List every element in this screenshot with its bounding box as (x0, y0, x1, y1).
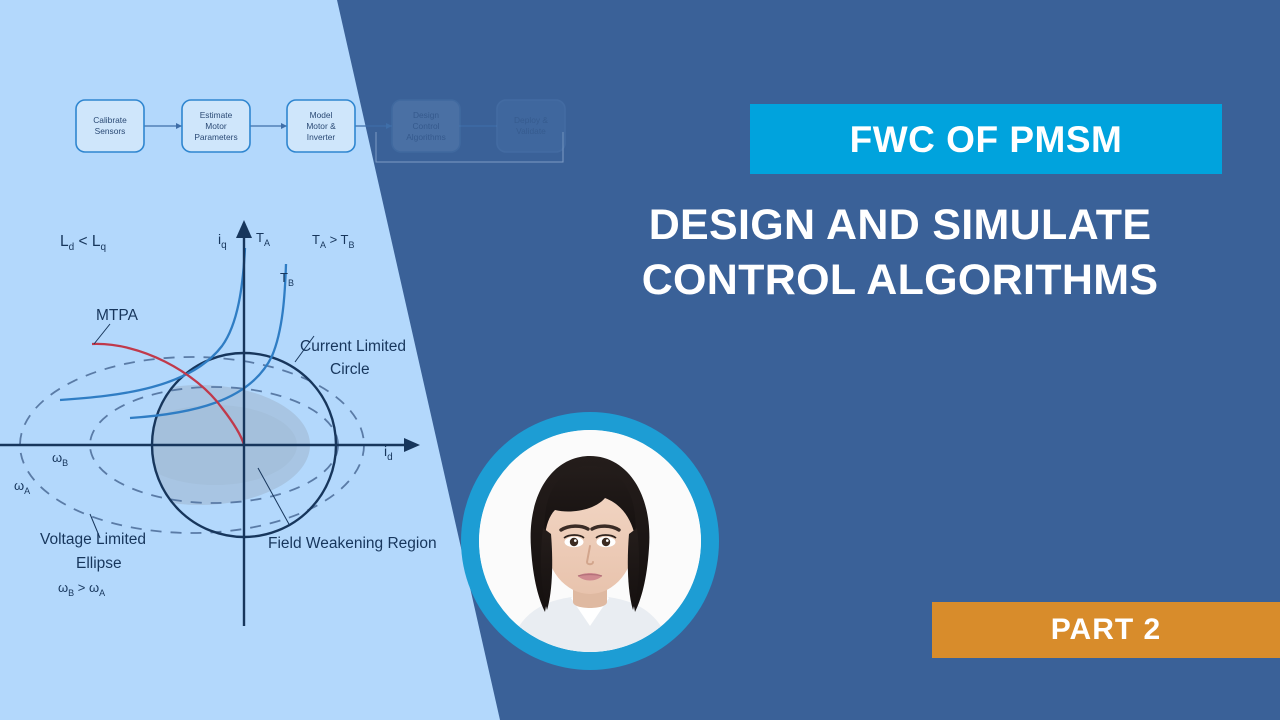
part-badge-label: PART 2 (1051, 615, 1161, 645)
y-axis-label: iq (218, 231, 227, 251)
flow-step-label: Sensors (95, 126, 126, 136)
flow-step-label: Inverter (307, 132, 336, 142)
mtpa-label: MTPA (96, 307, 139, 324)
torque-condition-label: TA > TB (312, 232, 355, 250)
voltage-limited-ellipse-label-line1: Voltage Limited (40, 531, 146, 548)
x-axis-arrowhead (404, 438, 420, 452)
page-title-line-2: CONTROL ALGORITHMS (540, 253, 1260, 308)
flow-step-deploy-validate: Deploy & Validate (497, 100, 565, 152)
y-axis-arrowhead (236, 220, 252, 238)
flow-step-label: Motor & (306, 121, 336, 131)
flow-step-label: Estimate (200, 110, 233, 120)
flow-step-label: Algorithms (406, 132, 446, 142)
current-limited-circle-label-line2: Circle (330, 361, 370, 378)
omega-a-label: ωA (14, 478, 30, 496)
video-thumbnail: Calibrate Sensors Estimate Motor Paramet… (0, 0, 1280, 720)
current-limited-circle-label-line1: Current Limited (300, 338, 406, 355)
flow-step-label: Validate (516, 126, 546, 136)
flow-step-label: Design (413, 110, 439, 120)
part-badge: PART 2 (932, 602, 1280, 658)
fwc-operating-plane-chart: iq id Ld < Lq TA > TB TA TB MTPA (0, 196, 470, 626)
flow-step-model-motor-inverter: Model Motor & Inverter (287, 100, 355, 152)
flow-step-design-control-algorithms: Design Control Algorithms (392, 100, 460, 152)
omega-b-label: ωB (52, 450, 68, 468)
flow-step-label: Deploy & (514, 115, 548, 125)
speed-condition-label: ωB > ωA (58, 580, 105, 598)
flow-step-label: Calibrate (93, 115, 127, 125)
avatar-inner-ring (479, 430, 701, 652)
topic-badge: FWC OF PMSM (750, 104, 1222, 174)
flow-step-estimate-motor-parameters: Estimate Motor Parameters (182, 100, 250, 152)
voltage-limited-ellipse-label-line2: Ellipse (76, 555, 122, 572)
page-title: DESIGN AND SIMULATE CONTROL ALGORITHMS (540, 198, 1260, 308)
inductance-condition-label: Ld < Lq (60, 233, 106, 253)
avatar (461, 412, 719, 670)
flow-step-label: Control (413, 121, 440, 131)
flow-step-label: Parameters (194, 132, 237, 142)
flow-step-calibrate-sensors: Calibrate Sensors (76, 100, 144, 152)
process-flow-diagram: Calibrate Sensors Estimate Motor Paramet… (66, 86, 586, 182)
page-title-line-1: DESIGN AND SIMULATE (540, 198, 1260, 253)
torque-curve-ta (60, 248, 245, 400)
flow-step-label: Model (310, 110, 333, 120)
torque-curve-tb-label: TB (280, 270, 294, 288)
topic-badge-label: FWC OF PMSM (850, 121, 1123, 158)
torque-curve-ta-label: TA (256, 230, 270, 248)
presenter-portrait-icon (479, 430, 701, 652)
field-weakening-region-label: Field Weakening Region (268, 535, 437, 552)
flow-step-label: Motor (205, 121, 227, 131)
